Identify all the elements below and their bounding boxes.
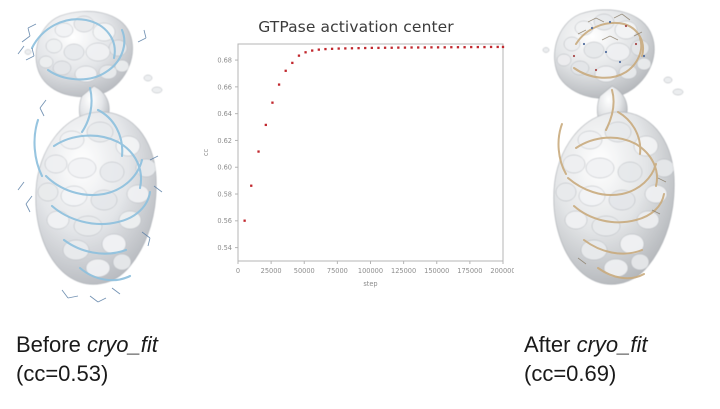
plot-frame [238, 44, 503, 261]
x-tick-label: 25000 [261, 267, 282, 275]
data-point [410, 46, 412, 48]
structure-image-before [2, 0, 202, 320]
caption-after-prefix: After [524, 332, 577, 357]
data-point [338, 47, 340, 49]
data-point [463, 46, 465, 48]
y-tick-label: 0.58 [217, 190, 232, 198]
caption-after-emphasis: cryo_fit [577, 332, 648, 357]
x-tick-label: 150000 [424, 267, 449, 275]
data-point [357, 47, 359, 49]
data-point [364, 47, 366, 49]
x-tick-label: 75000 [327, 267, 348, 275]
y-tick-label: 0.56 [217, 217, 232, 225]
data-point [477, 46, 479, 48]
data-point [331, 48, 333, 50]
y-tick-label: 0.68 [217, 56, 232, 64]
caption-before-prefix: Before [16, 332, 87, 357]
data-point [311, 49, 313, 51]
data-point [265, 124, 267, 126]
data-point [344, 47, 346, 49]
data-point [497, 46, 499, 48]
data-point [278, 83, 280, 85]
density-map-after [543, 10, 683, 284]
data-point [243, 220, 245, 222]
data-point [257, 150, 259, 152]
data-point [391, 47, 393, 49]
data-point [371, 47, 373, 49]
data-point [424, 46, 426, 48]
data-point [417, 46, 419, 48]
y-tick-label: 0.60 [217, 164, 232, 172]
x-tick-label: 175000 [457, 267, 482, 275]
data-point [502, 46, 504, 48]
data-point [291, 62, 293, 64]
data-point [483, 46, 485, 48]
data-point [298, 55, 300, 57]
x-tick-label: 200000 [490, 267, 514, 275]
data-point [450, 46, 452, 48]
data-point [470, 46, 472, 48]
data-point [304, 51, 306, 53]
caption-before: Before cryo_fit (cc=0.53) [16, 330, 158, 388]
x-tick-label: 0 [236, 267, 240, 275]
y-axis-label: cc [202, 149, 210, 157]
caption-before-cc: (cc=0.53) [16, 359, 158, 388]
data-point [444, 46, 446, 48]
data-point [318, 48, 320, 50]
data-point [285, 70, 287, 72]
y-tick-label: 0.54 [217, 244, 232, 252]
x-axis-label: step [363, 280, 377, 288]
cc-vs-step-chart: GTPase activation center 025000500007500… [198, 8, 514, 300]
data-point [430, 46, 432, 48]
density-map-before [25, 11, 162, 284]
data-point [404, 46, 406, 48]
y-tick-label: 0.64 [217, 110, 232, 118]
caption-after: After cryo_fit (cc=0.69) [524, 330, 648, 388]
data-point [490, 46, 492, 48]
structure-render-after [518, 0, 718, 320]
caption-after-cc: (cc=0.69) [524, 359, 648, 388]
data-point [271, 102, 273, 104]
caption-before-emphasis: cryo_fit [87, 332, 158, 357]
structure-image-after [518, 0, 718, 320]
data-point [324, 48, 326, 50]
data-point [250, 185, 252, 187]
structure-render-before [2, 0, 202, 320]
data-point [384, 47, 386, 49]
data-point [457, 46, 459, 48]
data-point [437, 46, 439, 48]
data-point [351, 47, 353, 49]
x-tick-label: 125000 [391, 267, 416, 275]
chart-title: GTPase activation center [198, 18, 514, 36]
data-point [397, 46, 399, 48]
y-tick-label: 0.66 [217, 83, 232, 91]
data-point [377, 47, 379, 49]
x-tick-label: 100000 [358, 267, 383, 275]
chart-plot-area: 0250005000075000100000125000150000175000… [198, 38, 514, 296]
x-tick-label: 50000 [294, 267, 315, 275]
y-tick-label: 0.62 [217, 137, 232, 145]
